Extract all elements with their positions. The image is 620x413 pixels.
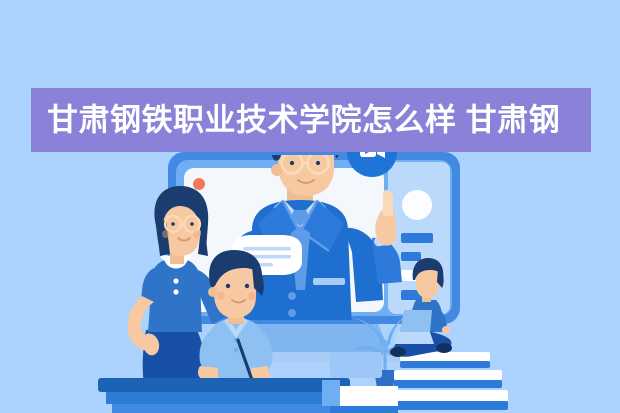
page-title: 甘肃钢铁职业技术学院怎么样 甘肃钢 [47, 105, 560, 136]
avatar-circle [402, 190, 432, 220]
thumbnail-card: 甘肃钢铁职业技术学院怎么样 甘肃钢 [0, 0, 620, 413]
screen-dot [193, 178, 205, 190]
study-desk [98, 378, 350, 413]
title-banner: 甘肃钢铁职业技术学院怎么样 甘肃钢 [31, 88, 591, 152]
online-classroom-illustration [0, 0, 620, 413]
